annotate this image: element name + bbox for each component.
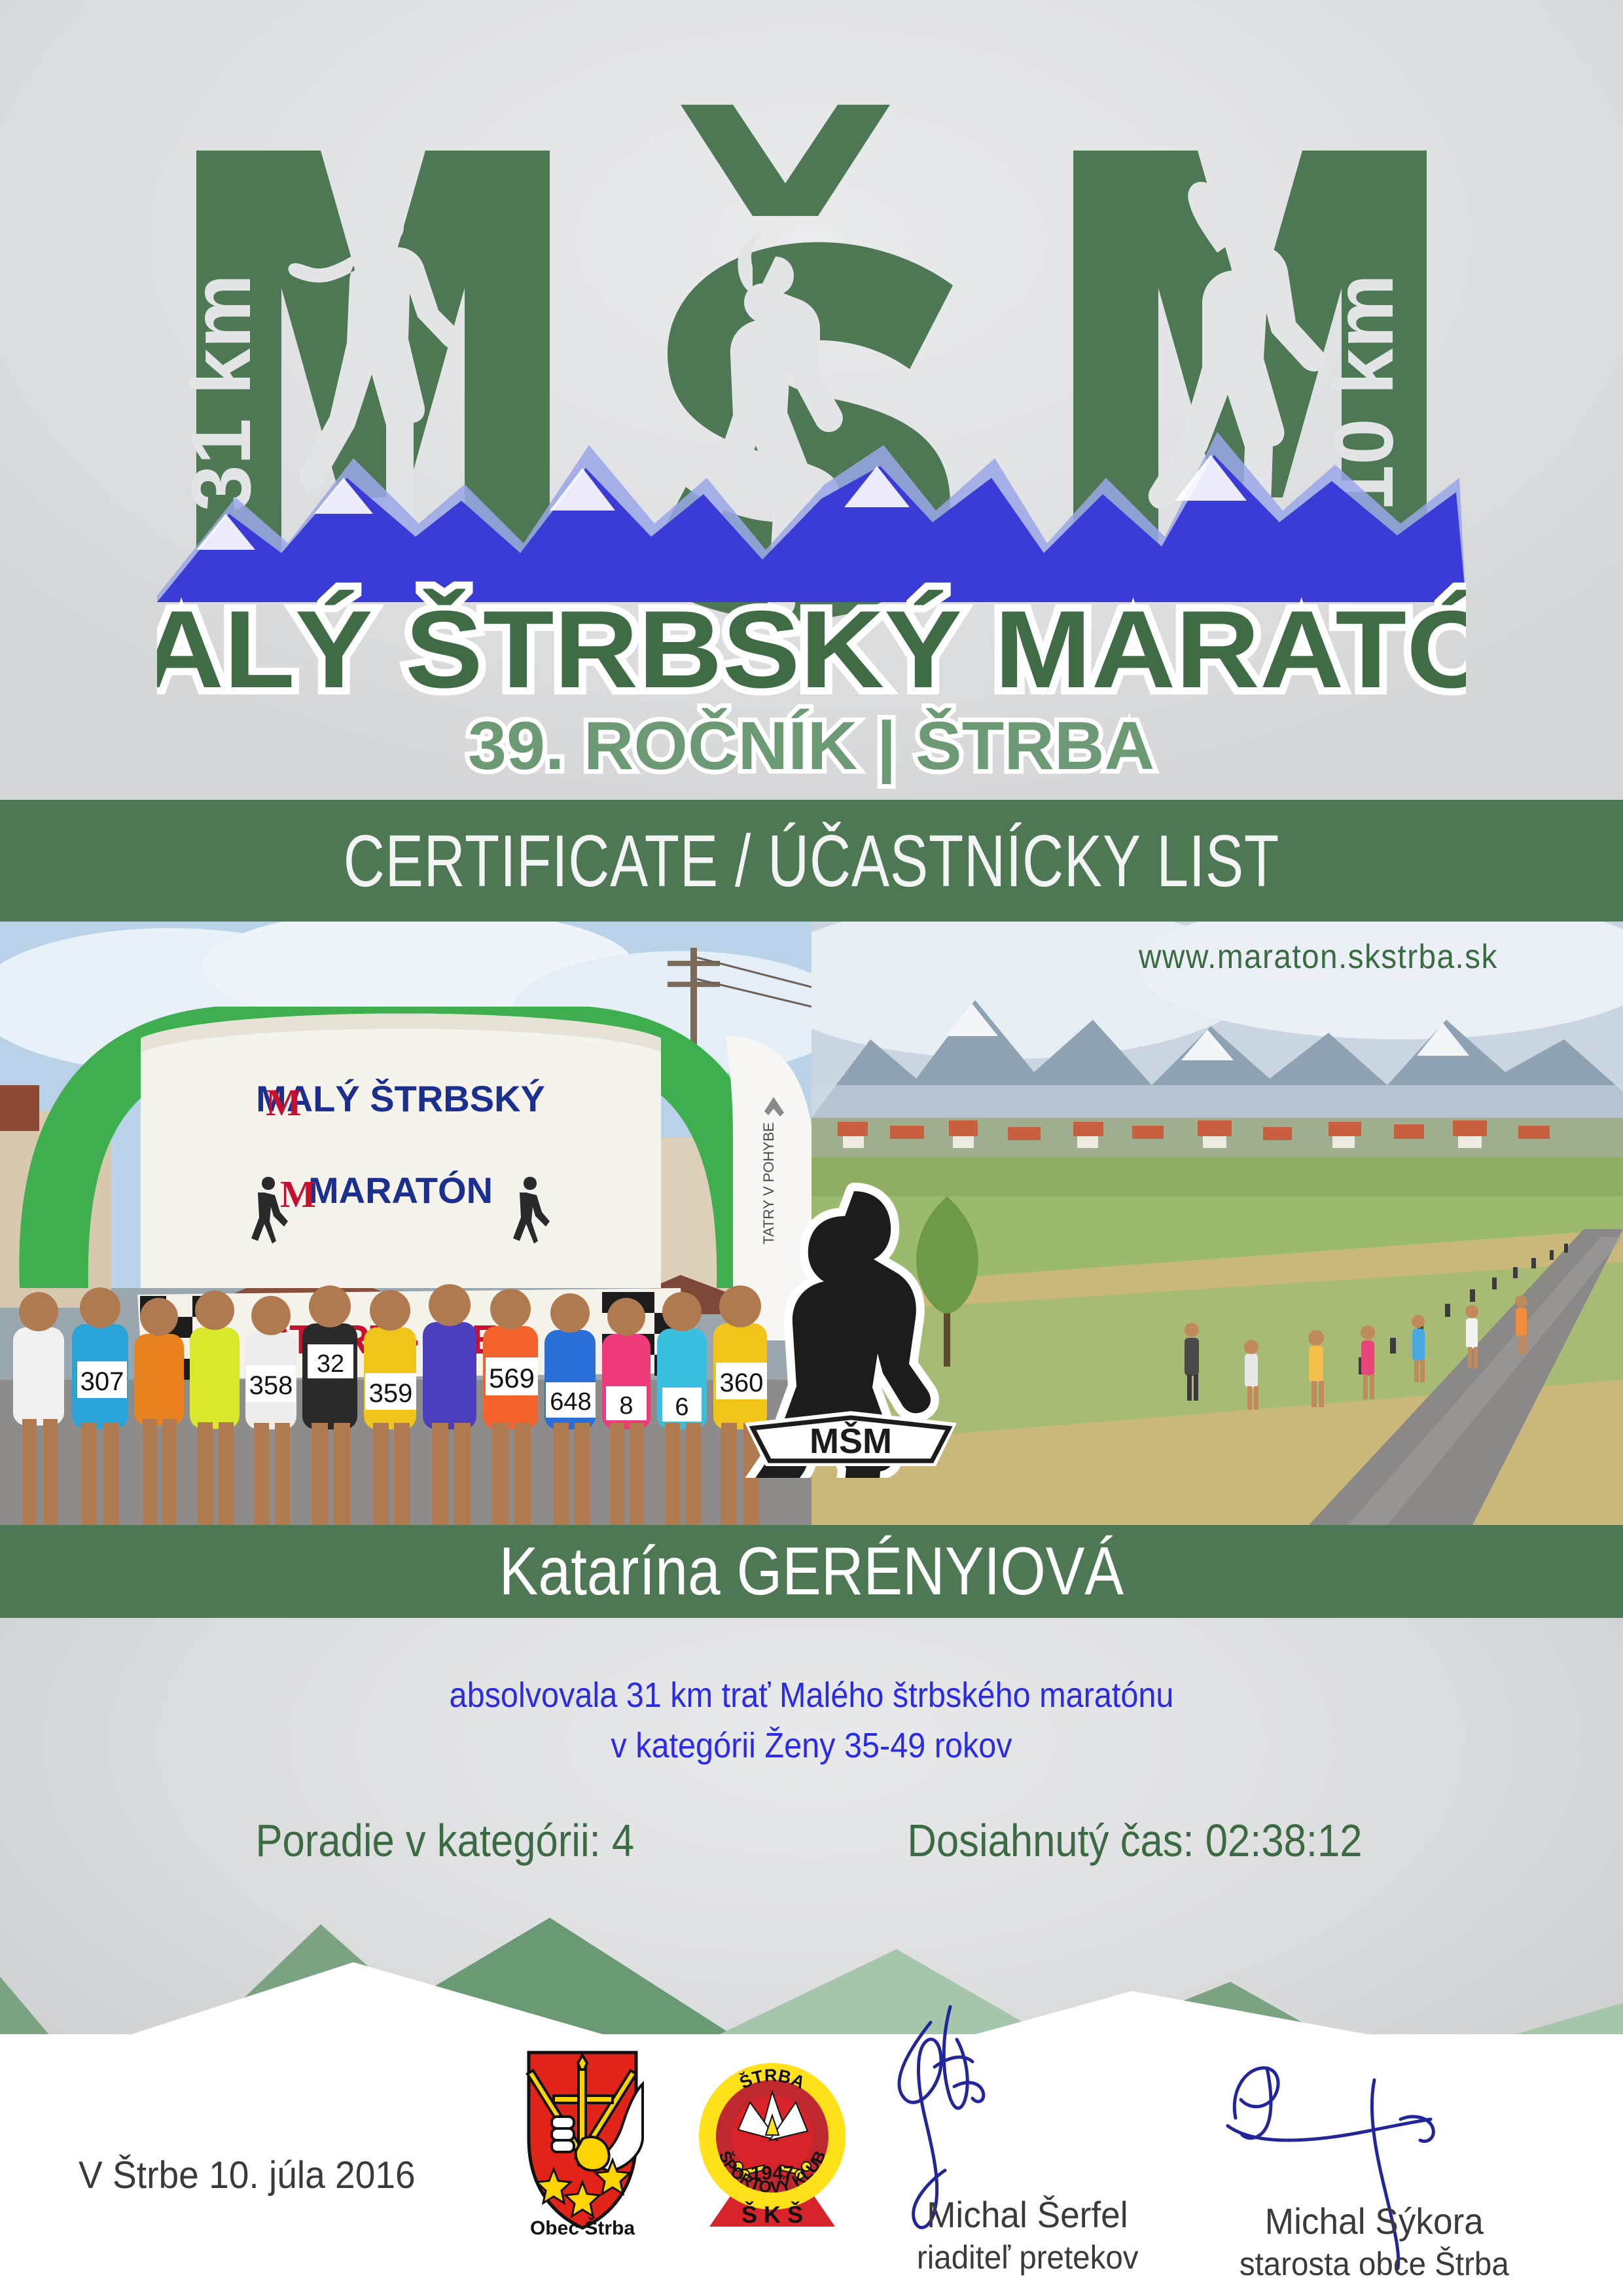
- obec-strba-label: Obec Štrba: [530, 2217, 635, 2237]
- place-and-date: V Štrbe 10. júla 2016: [79, 2153, 416, 2197]
- obec-strba-crest-svg: Obec Štrba: [510, 2041, 654, 2237]
- participant-name: Katarína GERÉNYIOVÁ: [499, 1533, 1124, 1611]
- signatory-role: starosta obce Štrba: [1240, 2248, 1509, 2280]
- bib-number: 569: [489, 1363, 535, 1393]
- result-values: Poradie v kategórii: 4 Dosiahnutý čas: 0…: [0, 1814, 1623, 1867]
- bib-number: 307: [80, 1367, 124, 1396]
- participant-name-band: Katarína GERÉNYIOVÁ: [0, 1525, 1623, 1618]
- footer: V Štrbe 10. júla 2016: [0, 2034, 1623, 2296]
- bib-number: 6: [675, 1393, 688, 1421]
- bib-number: 359: [369, 1379, 413, 1408]
- arch-title-line2: MARATÓN: [308, 1170, 493, 1211]
- club-bottom-text: Š K Š: [741, 2200, 803, 2228]
- event-logo: 31 km 1: [0, 0, 1623, 800]
- category-rank: Poradie v kategórii: 4: [256, 1814, 635, 1867]
- msm-overlay-mark: MŠM: [740, 1170, 962, 1478]
- signatory-role: riaditeľ pretekov: [917, 2241, 1139, 2274]
- certificate-title-band: CERTIFICATE / ÚČASTNÍCKY LIST: [0, 800, 1623, 922]
- arch-letter-M-red: M: [266, 1081, 302, 1124]
- arch-letter-M-red-2: M: [280, 1173, 316, 1215]
- signatory-name: Michal Šerfel: [927, 2197, 1128, 2233]
- description-line-2: v kategórii Ženy 35-49 rokov: [81, 1721, 1542, 1771]
- signature-block-director: Michal Šerfel riaditeľ pretekov: [870, 2197, 1185, 2274]
- logo-title: MALÝ ŠTRBSKÝ MARATÓN: [157, 588, 1466, 711]
- msm-overlay-text: MŠM: [810, 1421, 892, 1461]
- signature-block-mayor: Michal Sýkora starosta obce Štrba: [1217, 2203, 1531, 2280]
- msm-overlay-svg: MŠM: [740, 1170, 962, 1478]
- msm-logo-svg: 31 km 1: [157, 26, 1466, 798]
- photo-start-line: MALÝ ŠTRBSKÝ MARATÓN M M: [0, 922, 811, 1525]
- sks-club-emblem: 1947 ŠTRBA ŠPORTOVÝ KLUB Š K Š: [687, 2037, 857, 2243]
- msm-overlay-banner: MŠM: [745, 1411, 957, 1466]
- bib-number: 32: [317, 1350, 344, 1378]
- hero-header: 31 km 1: [0, 0, 1623, 800]
- certificate-title: CERTIFICATE / ÚČASTNÍCKY LIST: [344, 819, 1279, 903]
- signatory-name: Michal Sýkora: [1265, 2203, 1484, 2240]
- bib-number: 358: [249, 1371, 293, 1400]
- start-line-illustration: MALÝ ŠTRBSKÝ MARATÓN M M: [0, 922, 811, 1525]
- bib-number: 648: [550, 1388, 591, 1416]
- finish-time: Dosiahnutý čas: 02:38:12: [907, 1814, 1362, 1867]
- logo-subtitle: 39. ROČNÍK | ŠTRBA: [468, 708, 1154, 785]
- logo-left-distance: 31 km: [175, 274, 268, 512]
- website-url[interactable]: www.maraton.skstrba.sk: [1139, 937, 1498, 977]
- result-info-section: absolvovala 31 km trať Malého štrbského …: [0, 1618, 1623, 2034]
- description-line-1: absolvovala 31 km trať Malého štrbského …: [81, 1670, 1542, 1721]
- result-description: absolvovala 31 km trať Malého štrbského …: [81, 1670, 1542, 1770]
- sks-club-emblem-svg: 1947 ŠTRBA ŠPORTOVÝ KLUB Š K Š: [687, 2037, 857, 2240]
- bib-number: 8: [619, 1392, 633, 1420]
- certificate-page: 31 km 1: [0, 0, 1623, 2296]
- obec-strba-crest: Obec Štrba: [510, 2041, 654, 2240]
